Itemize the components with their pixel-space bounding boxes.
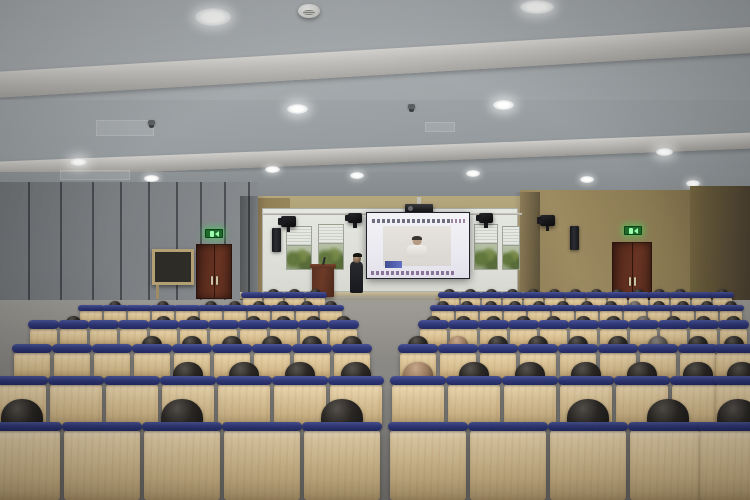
seat-padded-top <box>550 305 576 311</box>
seat-padded-top <box>448 320 479 329</box>
auditorium-seat[interactable] <box>550 428 626 500</box>
seat-padded-top <box>390 376 446 385</box>
seat-padded-top <box>52 344 92 353</box>
seat-padded-top <box>302 422 382 431</box>
window-with-blinds <box>286 226 312 270</box>
exit-arrow-icon <box>634 228 638 234</box>
auditorium-seat[interactable] <box>50 382 102 426</box>
seat-padded-top <box>62 422 142 431</box>
stage-spotlight <box>348 213 362 223</box>
seat-padded-top <box>148 320 179 329</box>
slide-badge <box>385 261 401 268</box>
recessed-downlight <box>466 170 480 177</box>
seat-padded-top <box>711 292 734 298</box>
seat-padded-top <box>78 305 104 311</box>
wall-speaker <box>272 228 281 252</box>
window-foliage <box>503 245 519 269</box>
recessed-downlight <box>580 176 594 183</box>
seat-padded-top <box>714 344 750 353</box>
seat-padded-top <box>222 305 248 311</box>
seat-padded-top <box>538 320 569 329</box>
auditorium-seat[interactable] <box>504 382 556 426</box>
auditorium-seat[interactable] <box>392 382 444 426</box>
seat-padded-top <box>606 292 629 298</box>
seat-padded-top <box>216 376 272 385</box>
auditorium-seat[interactable] <box>90 326 117 346</box>
seat-padded-top <box>438 292 461 298</box>
auditorium-seat[interactable] <box>390 428 466 500</box>
auditorium-seat[interactable] <box>60 326 87 346</box>
seat-padded-top <box>292 344 332 353</box>
seat-padded-top <box>598 305 624 311</box>
seat-padded-top <box>0 422 62 431</box>
seat-padded-top <box>328 376 384 385</box>
seat-padded-top <box>518 344 558 353</box>
seat-padded-top <box>622 305 648 311</box>
presenter-body <box>350 261 363 293</box>
window-blind <box>319 225 343 243</box>
window-blind <box>475 225 497 243</box>
window-blind <box>503 227 519 245</box>
lecture-hall-photo: Interior of a university lecture hall du… <box>0 0 750 500</box>
seat-padded-top <box>252 344 292 353</box>
wall-speaker <box>570 226 579 250</box>
recessed-downlight <box>493 100 514 110</box>
seat-padded-top <box>478 320 509 329</box>
recessed-downlight <box>656 148 673 156</box>
recessed-downlight <box>287 104 308 114</box>
auditorium-seat[interactable] <box>64 428 140 500</box>
seat-padded-top <box>646 305 672 311</box>
window-mullion <box>319 243 343 244</box>
seat-padded-top <box>142 422 222 431</box>
seat-padded-top <box>150 305 176 311</box>
seat-padded-top <box>304 292 327 298</box>
stage-spotlight <box>479 213 493 223</box>
seat-padded-top <box>478 305 504 311</box>
seat-padded-top <box>294 305 320 311</box>
presenter-hair <box>353 253 362 257</box>
seat-padded-top <box>564 292 587 298</box>
slide-corner-text <box>451 219 465 223</box>
auditorium-seat[interactable] <box>304 428 380 500</box>
seat-padded-top <box>478 344 518 353</box>
seat-padded-top <box>92 344 132 353</box>
slide-title-text <box>372 219 450 224</box>
seat-padded-top <box>501 292 524 298</box>
seat-padded-top <box>270 305 296 311</box>
seat-padded-top <box>212 344 252 353</box>
auditorium-seat[interactable] <box>0 428 60 500</box>
seat-padded-top <box>126 305 152 311</box>
auditorium-seat[interactable] <box>224 428 300 500</box>
notice-board <box>152 249 194 285</box>
seat-padded-top <box>160 376 216 385</box>
window-mullion <box>503 245 519 246</box>
seat-padded-top <box>438 344 478 353</box>
auditorium-seat[interactable] <box>30 326 57 346</box>
slide-person-body <box>407 245 427 258</box>
seat-padded-top <box>718 305 744 311</box>
seat-padded-top <box>688 320 719 329</box>
seat-padded-top <box>332 344 372 353</box>
window-with-blinds <box>502 226 520 270</box>
seat-padded-top <box>628 320 659 329</box>
seat-padded-top <box>670 305 696 311</box>
seat-padded-top <box>298 320 329 329</box>
recessed-downlight <box>350 172 364 179</box>
recessed-downlight <box>195 8 231 26</box>
seat-padded-top <box>543 292 566 298</box>
seat-padded-top <box>12 344 52 353</box>
auditorium-seat[interactable] <box>54 350 90 378</box>
seat-padded-top <box>174 305 200 311</box>
seat-padded-top <box>522 292 545 298</box>
door-handle[interactable] <box>629 277 631 286</box>
recessed-downlight <box>70 158 87 166</box>
auditorium-seat[interactable] <box>14 350 50 378</box>
seat-padded-top <box>718 320 749 329</box>
auditorium-seat[interactable] <box>94 350 130 378</box>
ceiling-sensor <box>148 120 155 125</box>
seat-padded-top <box>698 422 750 431</box>
window-with-blinds <box>474 224 498 270</box>
ceiling-panel-patch <box>60 170 130 180</box>
seat-padded-top <box>118 320 149 329</box>
door-split <box>214 245 215 298</box>
auditorium-seat[interactable] <box>700 428 750 500</box>
window-foliage <box>287 245 311 269</box>
exit-sign <box>205 229 223 238</box>
seat-padded-top <box>454 305 480 311</box>
seat-padded-top <box>328 320 359 329</box>
recessed-downlight <box>265 166 280 173</box>
ceiling-sensor <box>408 104 415 109</box>
seat-padded-top <box>574 305 600 311</box>
auditorium-seat[interactable] <box>274 382 326 426</box>
seat-padded-top <box>526 305 552 311</box>
slide-person-hair <box>412 236 422 240</box>
seat-padded-top <box>480 292 503 298</box>
seat-padded-top <box>648 292 671 298</box>
seat-padded-top <box>568 320 599 329</box>
seat-padded-top <box>690 292 713 298</box>
seat-padded-top <box>558 376 614 385</box>
auditorium-seat[interactable] <box>106 382 158 426</box>
seat-padded-top <box>104 376 160 385</box>
seat-padded-top <box>28 320 59 329</box>
seat-padded-top <box>446 376 502 385</box>
seat-padded-top <box>627 292 650 298</box>
seat-padded-top <box>48 376 104 385</box>
window-mullion <box>475 243 497 244</box>
seat-padded-top <box>262 292 285 298</box>
seat-padded-top <box>222 422 302 431</box>
seat-padded-top <box>208 320 239 329</box>
seat-padded-top <box>468 422 548 431</box>
auditorium-seat[interactable] <box>218 382 270 426</box>
seat-padded-top <box>198 305 224 311</box>
seat-padded-top <box>238 320 269 329</box>
seat-padded-top <box>658 320 689 329</box>
seat-padded-top <box>0 376 48 385</box>
recessed-downlight <box>144 175 159 182</box>
exit-sign <box>624 226 642 235</box>
auditorium-seat[interactable] <box>144 428 220 500</box>
seat-padded-top <box>669 292 692 298</box>
seat-padded-top <box>398 344 438 353</box>
seat-padded-top <box>502 305 528 311</box>
seat-padded-top <box>268 320 299 329</box>
seat-padded-top <box>388 422 468 431</box>
seat-padded-top <box>58 320 89 329</box>
seat-padded-top <box>246 305 272 311</box>
window-mullion <box>287 245 311 246</box>
door-left[interactable] <box>196 244 232 299</box>
ceiling-panel-patch <box>96 120 154 136</box>
seat-padded-top <box>585 292 608 298</box>
seat-padded-top <box>502 376 558 385</box>
door-handle[interactable] <box>211 276 213 285</box>
auditorium-seat[interactable] <box>630 428 706 500</box>
seat-padded-top <box>172 344 212 353</box>
seat-padded-top <box>614 376 670 385</box>
seat-padded-top <box>132 344 172 353</box>
recessed-downlight <box>520 0 554 14</box>
projection-screen <box>366 212 470 279</box>
seat-padded-top <box>558 344 598 353</box>
window-foliage <box>475 243 497 269</box>
door-handle[interactable] <box>216 276 218 285</box>
projection-screen-surface <box>367 213 469 278</box>
seat-padded-top <box>283 292 306 298</box>
ceiling-panel-patch <box>425 122 455 132</box>
seat-padded-top <box>598 344 638 353</box>
seat-padded-top <box>548 422 628 431</box>
stage-spotlight <box>281 216 296 227</box>
running-man-icon <box>210 231 214 237</box>
seat-padded-top <box>272 376 328 385</box>
smoke-detector <box>298 4 320 18</box>
seat-padded-top <box>714 376 750 385</box>
notice-board-stand <box>156 285 159 299</box>
running-man-icon <box>629 228 633 234</box>
seat-padded-top <box>508 320 539 329</box>
seat-padded-top <box>628 422 708 431</box>
auditorium-seat[interactable] <box>470 428 546 500</box>
seat-padded-top <box>88 320 119 329</box>
seat-padded-top <box>102 305 128 311</box>
seat-padded-top <box>638 344 678 353</box>
seat-padded-top <box>598 320 629 329</box>
seat-padded-top <box>430 305 456 311</box>
seat-padded-top <box>694 305 720 311</box>
slide-caption-bar <box>371 271 455 276</box>
window-blind <box>287 227 311 245</box>
seat-padded-top <box>241 292 264 298</box>
exit-arrow-icon <box>215 231 219 237</box>
stage-spotlight <box>540 215 555 226</box>
door-handle[interactable] <box>634 277 636 286</box>
auditorium-seat[interactable] <box>448 382 500 426</box>
seat-padded-top <box>178 320 209 329</box>
seat-padded-top <box>318 305 344 311</box>
seat-padded-top <box>678 344 718 353</box>
seat-padded-top <box>459 292 482 298</box>
seat-padded-top <box>418 320 449 329</box>
auditorium-seat[interactable] <box>134 350 170 378</box>
